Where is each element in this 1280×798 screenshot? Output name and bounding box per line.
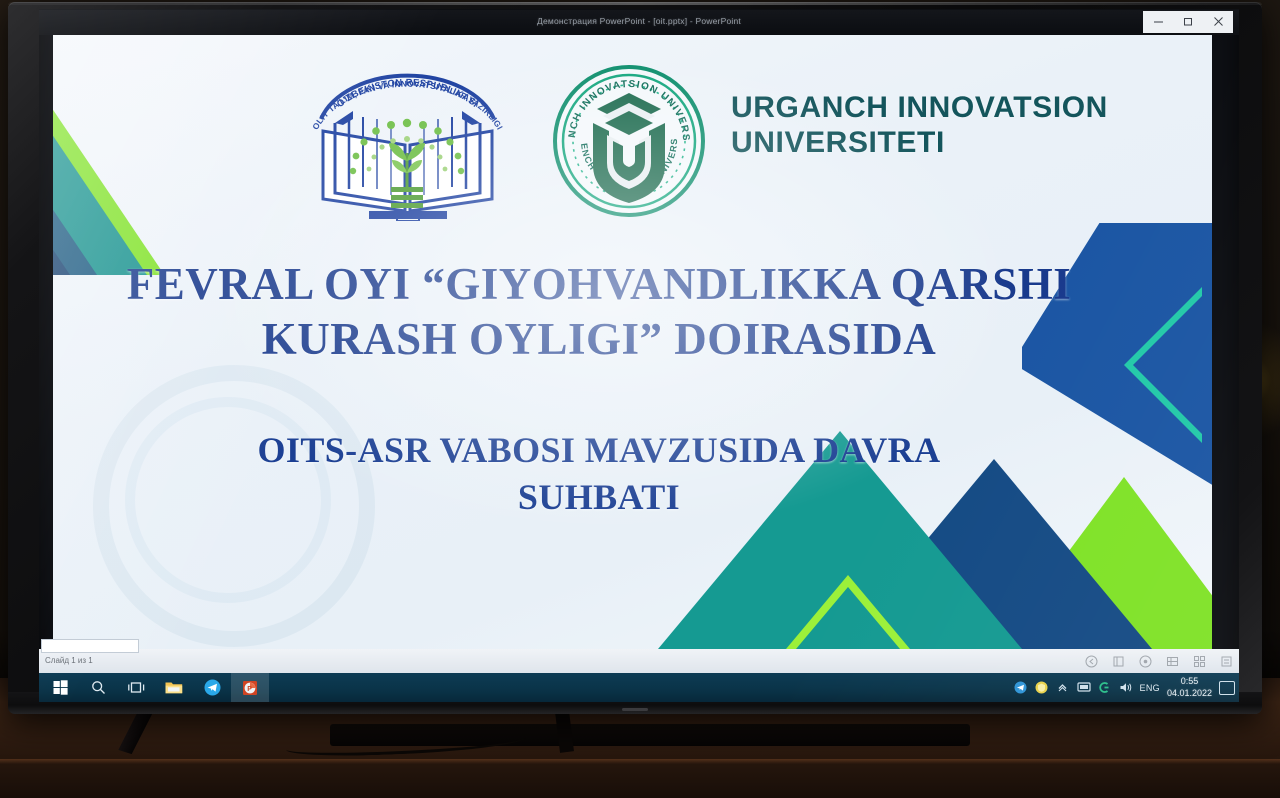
task-view-icon[interactable] [117, 673, 155, 702]
television-set: Демонстрация PowerPoint - [oit.pptx] - P… [8, 2, 1262, 714]
university-seal-icon: URGANCH INNOVATSION UNIVERSITETI URGENCH… [549, 61, 709, 221]
file-explorer-icon[interactable] [155, 673, 193, 702]
powerpoint-title-bar: Демонстрация PowerPoint - [oit.pptx] - P… [39, 9, 1239, 35]
previous-slide-icon[interactable] [1085, 655, 1098, 668]
slide-header: O'ZBEKISTON RESPUBLIKASI OLIY TA'LIM, FA… [53, 35, 1212, 225]
volume-tray-icon[interactable] [1119, 681, 1133, 695]
zoom-slide-icon[interactable] [1193, 655, 1206, 668]
window-controls [1143, 9, 1233, 34]
slideshow-controls [1085, 649, 1233, 673]
more-options-icon[interactable] [1220, 655, 1233, 668]
telegram-tray-icon[interactable] [1014, 681, 1028, 695]
search-icon[interactable] [79, 673, 117, 702]
display-tray-icon[interactable] [1077, 681, 1091, 695]
minimize-button[interactable] [1143, 11, 1173, 33]
taskbar-pinned-items: P [41, 673, 269, 702]
clock-date: 04.01.2022 [1167, 688, 1212, 699]
table-edge [0, 759, 1280, 764]
language-indicator[interactable]: ENG [1140, 683, 1160, 693]
chevron-blue-inner [1133, 296, 1202, 434]
start-button[interactable] [41, 673, 79, 702]
slideshow-status-bar: Слайд 1 из 1 [39, 649, 1239, 673]
tv-bezel-highlight [8, 2, 1262, 5]
photo-of-tv-showing-powerpoint: Демонстрация PowerPoint - [oit.pptx] - P… [0, 0, 1280, 798]
slide-title: FEVRAL OYI “GIYOHVANDLIKKA QARSHI KURASH… [99, 257, 1099, 367]
clock-time: 0:55 [1167, 676, 1212, 687]
clock[interactable]: 0:55 04.01.2022 [1167, 676, 1212, 699]
pen-tools-icon[interactable] [1112, 655, 1125, 668]
triangle-chevron-inner [796, 587, 900, 649]
powerpoint-icon[interactable]: P [231, 673, 269, 702]
ministry-emblem-icon: O'ZBEKISTON RESPUBLIKASI OLIY TA'LIM, FA… [305, 61, 510, 221]
tv-screen: Демонстрация PowerPoint - [oit.pptx] - P… [39, 9, 1239, 702]
shield-tray-icon[interactable] [1035, 681, 1049, 695]
windows-taskbar: P [39, 673, 1239, 702]
window-title: Демонстрация PowerPoint - [oit.pptx] - P… [39, 9, 1239, 34]
hidden-icons-chevron-icon[interactable] [1056, 681, 1070, 695]
system-tray: ENG 0:55 04.01.2022 [1014, 673, 1235, 702]
university-name-heading: URGANCH INNOVATSION UNIVERSITETI [731, 90, 1131, 161]
presentation-slide[interactable]: O'ZBEKISTON RESPUBLIKASI OLIY TA'LIM, FA… [53, 35, 1212, 649]
all-slides-icon[interactable] [1166, 655, 1179, 668]
slide-subtitle: OITS-ASR VABOSI MAVZUSIDA DAVRA SUHBATI [179, 427, 1019, 521]
notifications-icon[interactable] [1219, 681, 1235, 695]
close-button[interactable] [1203, 11, 1233, 33]
slide-counter: Слайд 1 из 1 [45, 649, 93, 673]
network-tray-icon[interactable] [1098, 681, 1112, 695]
tv-brand-logo [622, 708, 648, 711]
next-slide-icon[interactable] [1139, 655, 1152, 668]
restore-button[interactable] [1173, 11, 1203, 33]
svg-text:P: P [247, 686, 252, 693]
telegram-icon[interactable] [193, 673, 231, 702]
